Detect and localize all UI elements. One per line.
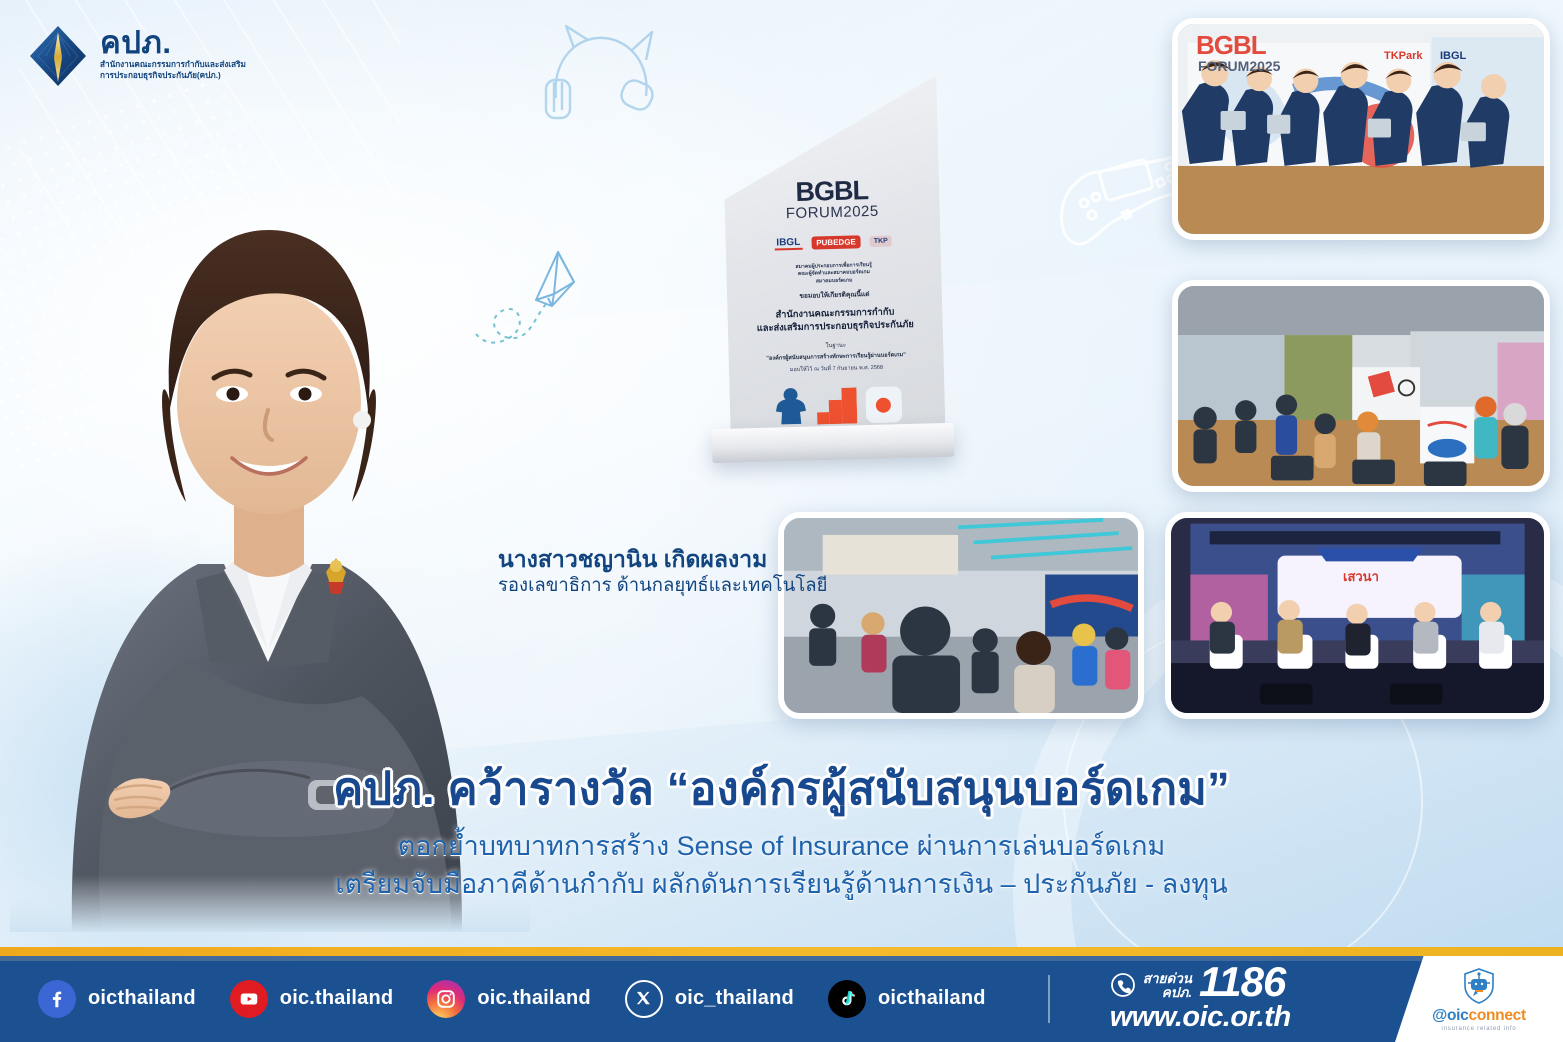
social-instagram[interactable]: oic.thailand — [427, 980, 591, 1018]
trophy-logo-tkp: TKP — [870, 235, 892, 247]
social-links: oicthailand oic.thailand oic.thailand — [0, 964, 1291, 1034]
panel-discussion-photo[interactable]: เสวนา — [1165, 512, 1550, 719]
headline-block: คปภ. คว้ารางวัล “องค์กรผู้สนับสนุนบอร์ดเ… — [0, 762, 1563, 904]
phone-icon — [1110, 972, 1136, 998]
headline-main: คปภ. คว้ารางวัล “องค์กรผู้สนับสนุนบอร์ดเ… — [0, 762, 1563, 815]
tiktok-icon — [828, 980, 866, 1018]
social-tiktok[interactable]: oicthailand — [828, 980, 986, 1018]
dice-icon — [865, 386, 902, 423]
hotline-label-line1: สายด่วน — [1143, 972, 1192, 986]
logo-abbreviation: คปภ. — [100, 28, 260, 57]
facebook-icon — [38, 980, 76, 1018]
spokesperson-name-block: นางสาวชญานิน เกิดผลงาม รองเลขาธิการ ด้าน… — [498, 546, 827, 597]
event-venue-photo[interactable] — [1172, 280, 1550, 492]
award-trophy: BGBL FORUM2025 IBGL PUBEDGE TKP สมาคมผู้… — [706, 78, 996, 478]
social-x[interactable]: oic_thailand — [625, 980, 794, 1018]
photo1-brand-ibgl: IBGL — [1440, 50, 1466, 62]
oicconnect-at: @ — [1432, 1007, 1447, 1024]
hotline-label-line2: คปภ. — [1143, 986, 1192, 1000]
x-handle: oic_thailand — [675, 987, 794, 1010]
social-facebook[interactable]: oicthailand — [38, 980, 196, 1018]
trophy-partner-logos: IBGL PUBEDGE TKP — [774, 234, 892, 250]
trophy-presenter-line3: สมาคมบอร์ดเกม — [816, 277, 853, 285]
trophy-logo-ibgl: IBGL — [774, 237, 802, 251]
oicconnect-connect: connect — [1469, 1007, 1526, 1024]
logo-fullname: สำนักงานคณะกรรมการกำกับและส่งเสริม การปร… — [100, 60, 260, 82]
facebook-handle: oicthailand — [88, 987, 196, 1010]
youtube-icon — [230, 980, 268, 1018]
trophy-in-label: ในฐานะ — [825, 340, 846, 351]
trophy-subtitle: FORUM2025 — [786, 203, 879, 222]
meeple-icon — [773, 387, 808, 426]
photo1-brand-tkpark: TKPark — [1384, 50, 1423, 62]
hotline-number: 1186 — [1199, 964, 1285, 1000]
steps-icon — [816, 388, 857, 425]
spokesperson-role: รองเลขาธิการ ด้านกลยุทธ์และเทคโนโลยี — [498, 574, 827, 596]
trophy-honor-label: ขอมอบให้เกียรติคุณนี้แด่ — [799, 288, 869, 301]
oic-diamond-logo-icon — [28, 24, 88, 88]
boardgame-crowd-photo[interactable] — [778, 512, 1144, 719]
photo1-caption-bgbl: BGBL — [1196, 30, 1266, 61]
oicconnect-badge[interactable]: @oicconnect insurance related info — [1395, 956, 1563, 1042]
tiktok-handle: oicthailand — [878, 987, 986, 1010]
award-group-photo[interactable]: BGBL FORUM2025 TKPark IBGL — [1172, 18, 1550, 240]
gold-divider-stripe — [0, 947, 1563, 956]
youtube-handle: oic.thailand — [280, 987, 394, 1010]
footer-divider — [1048, 975, 1050, 1023]
trophy-org-line2: และส่งเสริมการประกอบธุรกิจประกันภัย — [757, 318, 914, 335]
cat-ear-headphones-icon — [530, 20, 670, 140]
headline-sub-line2: เตรียมจับมือภาคีด้านกำกับ ผลักดันการเรีย… — [0, 865, 1563, 903]
footer-bar: oicthailand oic.thailand oic.thailand — [0, 956, 1563, 1042]
robot-shield-icon — [1461, 967, 1497, 1005]
instagram-icon — [427, 980, 465, 1018]
logo-fullname-line1: สำนักงานคณะกรรมการกำกับและส่งเสริม — [100, 60, 246, 69]
photo1-caption-forum: FORUM2025 — [1198, 58, 1280, 74]
social-youtube[interactable]: oic.thailand — [230, 980, 394, 1018]
oicconnect-tagline: insurance related info — [1442, 1026, 1517, 1032]
spokesperson-name: นางสาวชญานิน เกิดผลงาม — [498, 546, 827, 572]
trophy-base — [712, 423, 955, 463]
poster-canvas: คปภ. สำนักงานคณะกรรมการกำกับและส่งเสริม … — [0, 0, 1563, 1042]
logo-fullname-line2: การประกอบธุรกิจประกันภัย(คปภ.) — [100, 71, 221, 80]
oicconnect-oic: oic — [1447, 1007, 1469, 1024]
headline-sub-line1: ตอกย้ำบทบาทการสร้าง Sense of Insurance ผ… — [0, 827, 1563, 865]
website-url[interactable]: www.oic.or.th — [1110, 1001, 1291, 1034]
instagram-handle: oic.thailand — [477, 987, 591, 1010]
oic-logo[interactable]: คปภ. สำนักงานคณะกรรมการกำกับและส่งเสริม … — [28, 24, 260, 88]
x-twitter-icon — [625, 980, 663, 1018]
photo4-caption-sewana: เสวนา — [1343, 566, 1379, 587]
trophy-logo-pubedge: PUBEDGE — [811, 235, 861, 249]
trophy-category: "องค์กรผู้สนับสนุนการสร้างทักษะการเรียนร… — [766, 351, 906, 363]
trophy-date: มอบให้ไว้ ณ วันที่ 7 กันยายน พ.ศ. 2568 — [790, 364, 883, 374]
hotline-block[interactable]: สายด่วน คปภ. 1186 www.oic.or.th — [1110, 964, 1291, 1034]
